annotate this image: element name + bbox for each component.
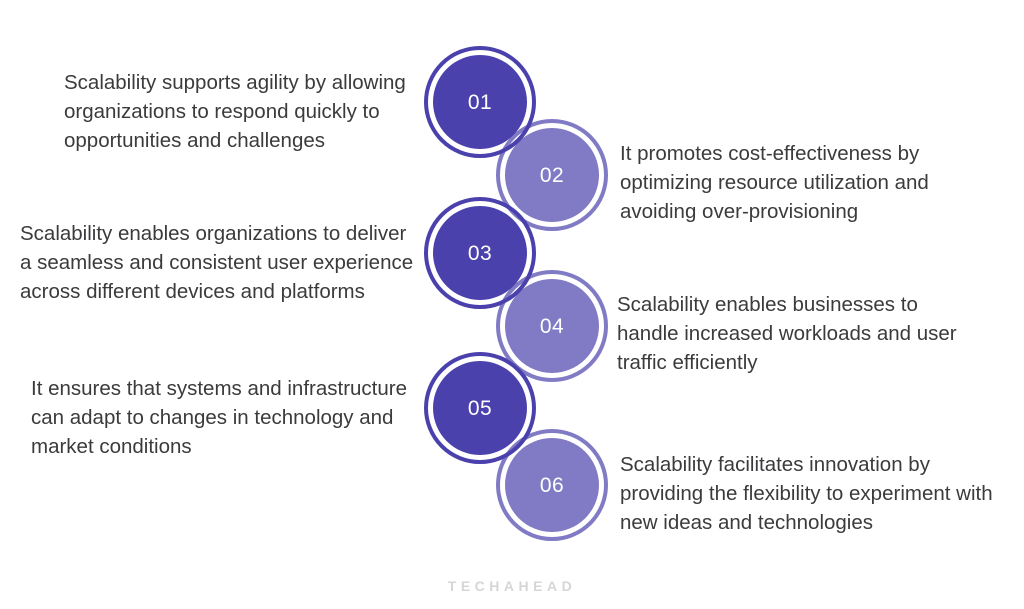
blurb-02: It promotes cost-effectiveness by optimi… [620,139,950,226]
infographic-canvas: Scalability supports agility by allowing… [0,0,1024,609]
blurb-03: Scalability enables organizations to del… [20,219,420,306]
step-circle-05[interactable]: 05 [424,352,536,464]
step-circle-03[interactable]: 03 [424,197,536,309]
step-circle-01[interactable]: 01 [424,46,536,158]
step-number-01: 01 [468,92,492,113]
step-number-05: 05 [468,398,492,419]
step-number-03: 03 [468,243,492,264]
blurb-06: Scalability facilitates innovation by pr… [620,450,1010,537]
circle-disc-01: 01 [433,55,527,149]
step-number-06: 06 [540,475,564,496]
step-number-04: 04 [540,316,564,337]
blurb-05: It ensures that systems and infrastructu… [31,374,421,461]
blurb-01: Scalability supports agility by allowing… [64,68,416,155]
blurb-04: Scalability enables businesses to handle… [617,290,965,377]
circle-disc-05: 05 [433,361,527,455]
step-number-02: 02 [540,165,564,186]
circle-disc-03: 03 [433,206,527,300]
techahead-wordmark: TECHAHEAD [0,578,1024,594]
circle-disc-06: 06 [505,438,599,532]
